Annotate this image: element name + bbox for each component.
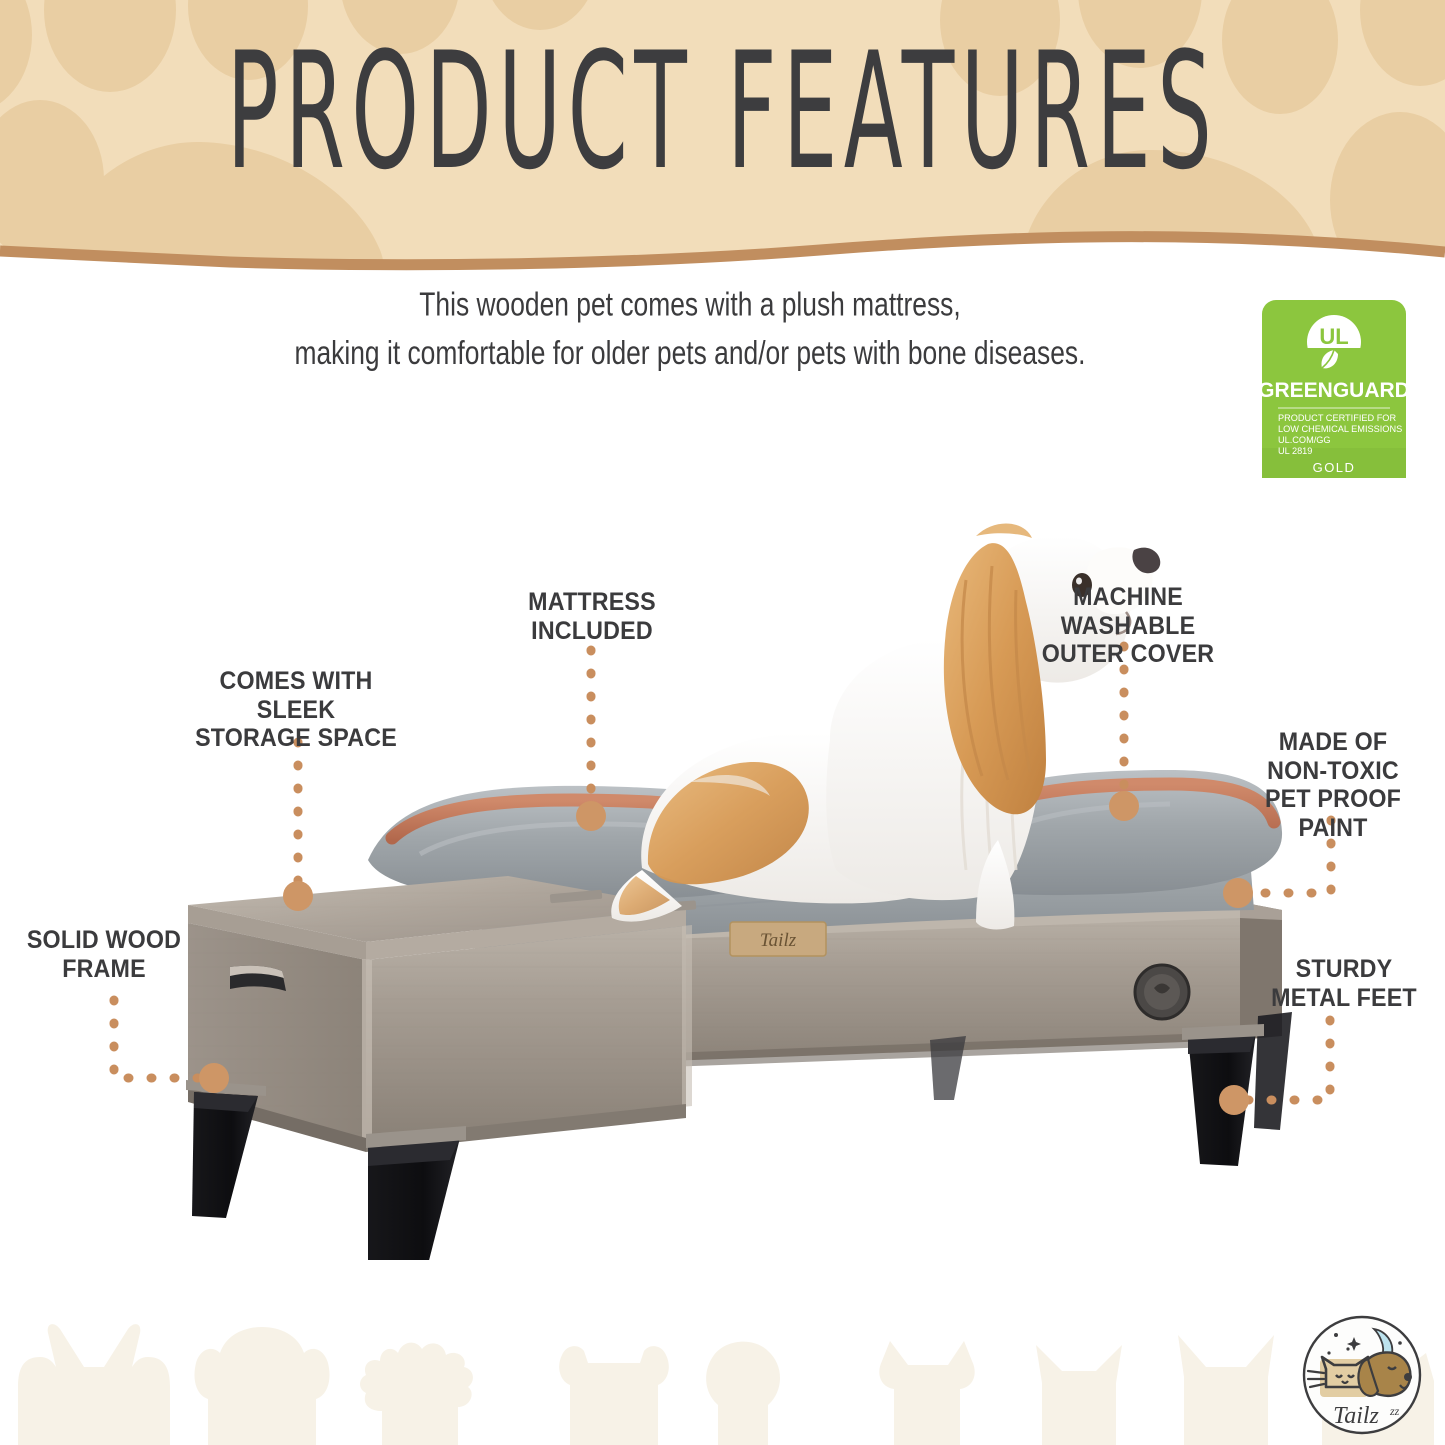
logo-wordmark: Tailz (1333, 1403, 1379, 1429)
callout-sturdy-metal-feet: STURDY METAL FEET (1256, 955, 1433, 1012)
callout-mattress-included: MATTRESS INCLUDED (514, 588, 670, 645)
greenguard-fineprint-1: PRODUCT CERTIFIED FOR (1278, 413, 1396, 423)
mattress-tag-label: Tailz (760, 930, 797, 951)
infographic-canvas: PRODUCT FEATURES This wooden pet comes w… (0, 0, 1445, 1445)
callout-solid-wood-frame: SOLID WOOD FRAME (11, 926, 197, 983)
subtitle: This wooden pet comes with a plush mattr… (215, 282, 1165, 377)
greenguard-level: GOLD (1313, 460, 1356, 475)
subtitle-line-2: making it comfortable for older pets and… (215, 330, 1165, 378)
mattress-brand-tag: Tailz (730, 922, 826, 956)
callout-storage-space: COMES WITH SLEEK STORAGE SPACE (194, 667, 399, 753)
pet-silhouettes (0, 1315, 1445, 1445)
greenguard-title: GREENGUARD (1262, 379, 1406, 402)
header-band: PRODUCT FEATURES (0, 0, 1445, 280)
ul-mark: UL (1319, 324, 1348, 349)
subtitle-line-1: This wooden pet comes with a plush mattr… (215, 282, 1165, 330)
product-image: Tailz (130, 440, 1315, 1260)
ul-circle-icon: UL (1307, 315, 1361, 375)
logo-sleep-mark: zz (1389, 1404, 1400, 1418)
brand-medallion (1135, 965, 1189, 1019)
callout-non-toxic-paint: MADE OF NON-TOXIC PET PROOF PAINT (1230, 728, 1436, 842)
callout-machine-washable: MACHINE WASHABLE OUTER COVER (1013, 583, 1244, 669)
leg-center-rear (930, 1036, 966, 1100)
tailz-logo: Tailz zz (1296, 1313, 1428, 1441)
page-title: PRODUCT FEATURES (58, 31, 1387, 192)
greenguard-fineprint-2: LOW CHEMICAL EMISSIONS (1278, 424, 1402, 434)
